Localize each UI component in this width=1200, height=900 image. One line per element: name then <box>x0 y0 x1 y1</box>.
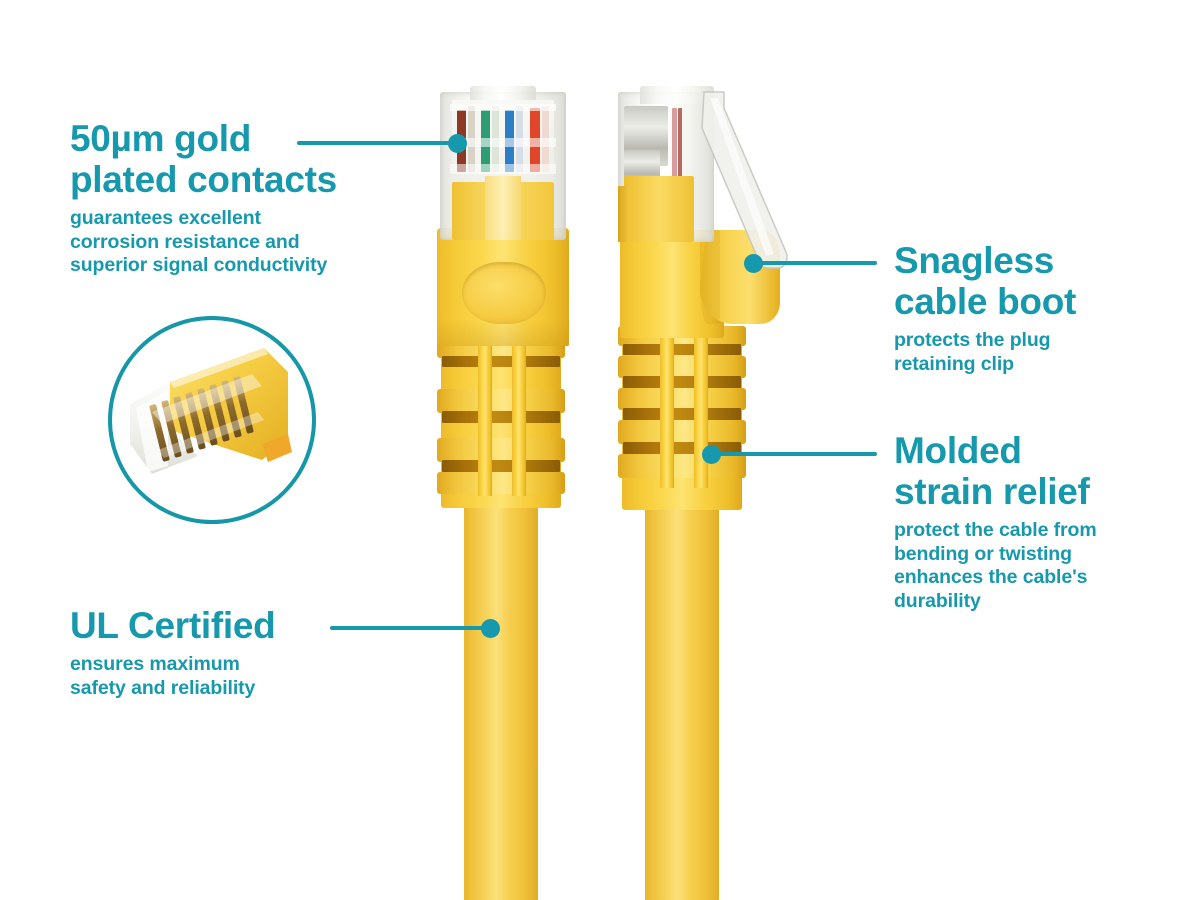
strain-relief-rib <box>618 388 746 410</box>
leader-line-strain-relief <box>711 452 877 456</box>
closeup-plug-svg <box>112 320 312 520</box>
strain-relief-rib <box>618 454 746 478</box>
plug-insert-edge <box>618 186 630 242</box>
callout-molded-strain-relief: Molded strain relief protect the cable f… <box>894 430 1184 613</box>
leader-line-snagless-boot <box>753 261 877 265</box>
strain-relief-groove <box>623 376 741 388</box>
cable-jacket-right <box>645 500 719 900</box>
leader-dot-ul-certified <box>481 619 500 638</box>
strain-relief-rib <box>618 356 746 378</box>
callout-subtext: protect the cable from bending or twisti… <box>894 519 1184 613</box>
conductor-wire <box>678 108 682 184</box>
plug-yellow-insert-side <box>624 176 694 242</box>
callout-headline: UL Certified <box>70 605 400 646</box>
callout-gold-plated-contacts: 50µm gold plated contacts guarantees exc… <box>70 118 400 278</box>
callout-subtext: ensures maximum safety and reliability <box>70 653 400 700</box>
callout-headline: Molded strain relief <box>894 430 1184 512</box>
callout-ul-certified: UL Certified ensures maximum safety and … <box>70 605 400 700</box>
closeup-artwork <box>112 320 312 520</box>
callout-snagless-cable-boot: Snagless cable boot protects the plug re… <box>894 240 1184 376</box>
strain-relief-rib <box>618 420 746 444</box>
leader-dot-gold-contacts <box>448 134 467 153</box>
strain-relief-groove <box>623 408 741 420</box>
callout-headline: Snagless cable boot <box>894 240 1184 322</box>
rib-notch <box>694 326 708 488</box>
conductor-wire <box>672 108 677 184</box>
rib-notch <box>660 326 674 488</box>
retaining-clip-arm <box>690 88 800 278</box>
callout-subtext: protects the plug retaining clip <box>894 329 1184 376</box>
infographic-canvas: 50µm gold plated contacts guarantees exc… <box>0 0 1200 900</box>
callout-headline: 50µm gold plated contacts <box>70 118 400 200</box>
contacts-closeup-inset <box>108 316 316 524</box>
callout-subtext: guarantees excellent corrosion resistanc… <box>70 207 400 278</box>
